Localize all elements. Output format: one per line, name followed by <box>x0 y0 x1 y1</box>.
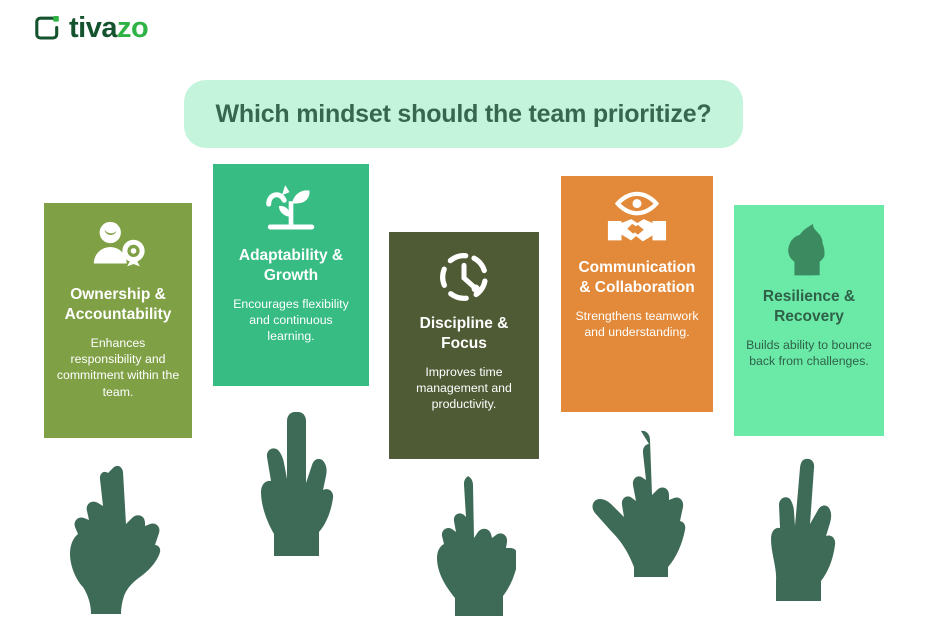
pointing-hand-icon <box>424 472 516 620</box>
card-description: Enhances responsibility and commitment w… <box>56 335 180 400</box>
card-description: Encourages flexibility and continuous le… <box>225 296 357 345</box>
eye-handshake-icon <box>606 190 668 252</box>
card-title: Discipline & Focus <box>401 314 527 354</box>
question-title: Which mindset should the team prioritize… <box>216 100 712 129</box>
mindset-card-resilience-recovery[interactable]: Resilience & Recovery Builds ability to … <box>734 205 884 436</box>
pointing-hand-icon <box>585 427 689 577</box>
bracket-square-icon <box>32 13 62 43</box>
mindset-card-adaptability-growth[interactable]: Adaptability & Growth Encourages flexibi… <box>213 164 369 386</box>
pointing-hand-icon <box>64 462 172 614</box>
card-description: Strengthens teamwork and understanding. <box>573 308 701 341</box>
pointing-hand-icon <box>253 408 349 556</box>
card-title: Communication & Collaboration <box>573 258 701 298</box>
question-banner: Which mindset should the team prioritize… <box>184 80 743 148</box>
mindset-card-communication-collaboration[interactable]: Communication & Collaboration Strengthen… <box>561 176 713 412</box>
brand-name: tivazo <box>69 14 148 43</box>
brand-logo[interactable]: tivazo <box>32 13 148 43</box>
card-description: Builds ability to bounce back from chall… <box>746 337 872 370</box>
person-award-icon <box>87 217 149 279</box>
brand-name-part2: zo <box>117 12 148 44</box>
dashed-clock-icon <box>433 246 495 308</box>
card-description: Improves time management and productivit… <box>401 364 527 413</box>
mindset-card-discipline-focus[interactable]: Discipline & Focus Improves time managem… <box>389 232 539 459</box>
sprout-growth-icon <box>260 178 322 240</box>
head-flame-icon <box>778 219 840 281</box>
card-title: Adaptability & Growth <box>225 246 357 286</box>
card-title: Ownership & Accountability <box>56 285 180 325</box>
mindset-card-ownership-accountability[interactable]: Ownership & Accountability Enhances resp… <box>44 203 192 438</box>
pointing-hand-icon <box>766 455 856 601</box>
card-title: Resilience & Recovery <box>746 287 872 327</box>
brand-name-part1: tiva <box>69 12 117 44</box>
